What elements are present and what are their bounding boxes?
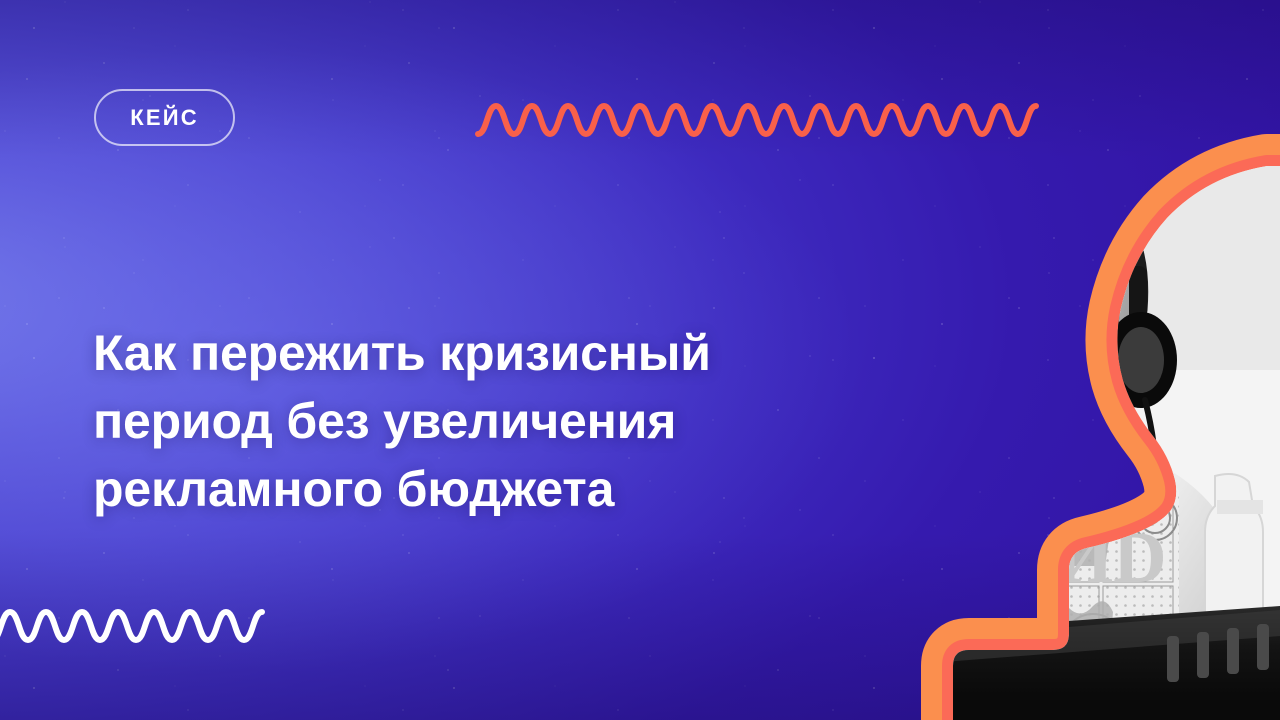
banner-canvas: RЛИD 2022 <box>0 0 1280 720</box>
console-brand-label: Pioneer DJ <box>800 647 926 681</box>
headline-line-3: рекламного бюджета <box>93 455 853 523</box>
headline-line-1: Как пережить кризисный <box>93 319 853 387</box>
case-badge[interactable]: КЕЙС <box>94 89 235 146</box>
case-badge-label: КЕЙС <box>130 107 199 129</box>
page-title: Как пережить кризисный период без увелич… <box>93 319 853 523</box>
headline-line-2: период без увеличения <box>93 387 853 455</box>
white-sine-wave-icon <box>0 596 274 658</box>
